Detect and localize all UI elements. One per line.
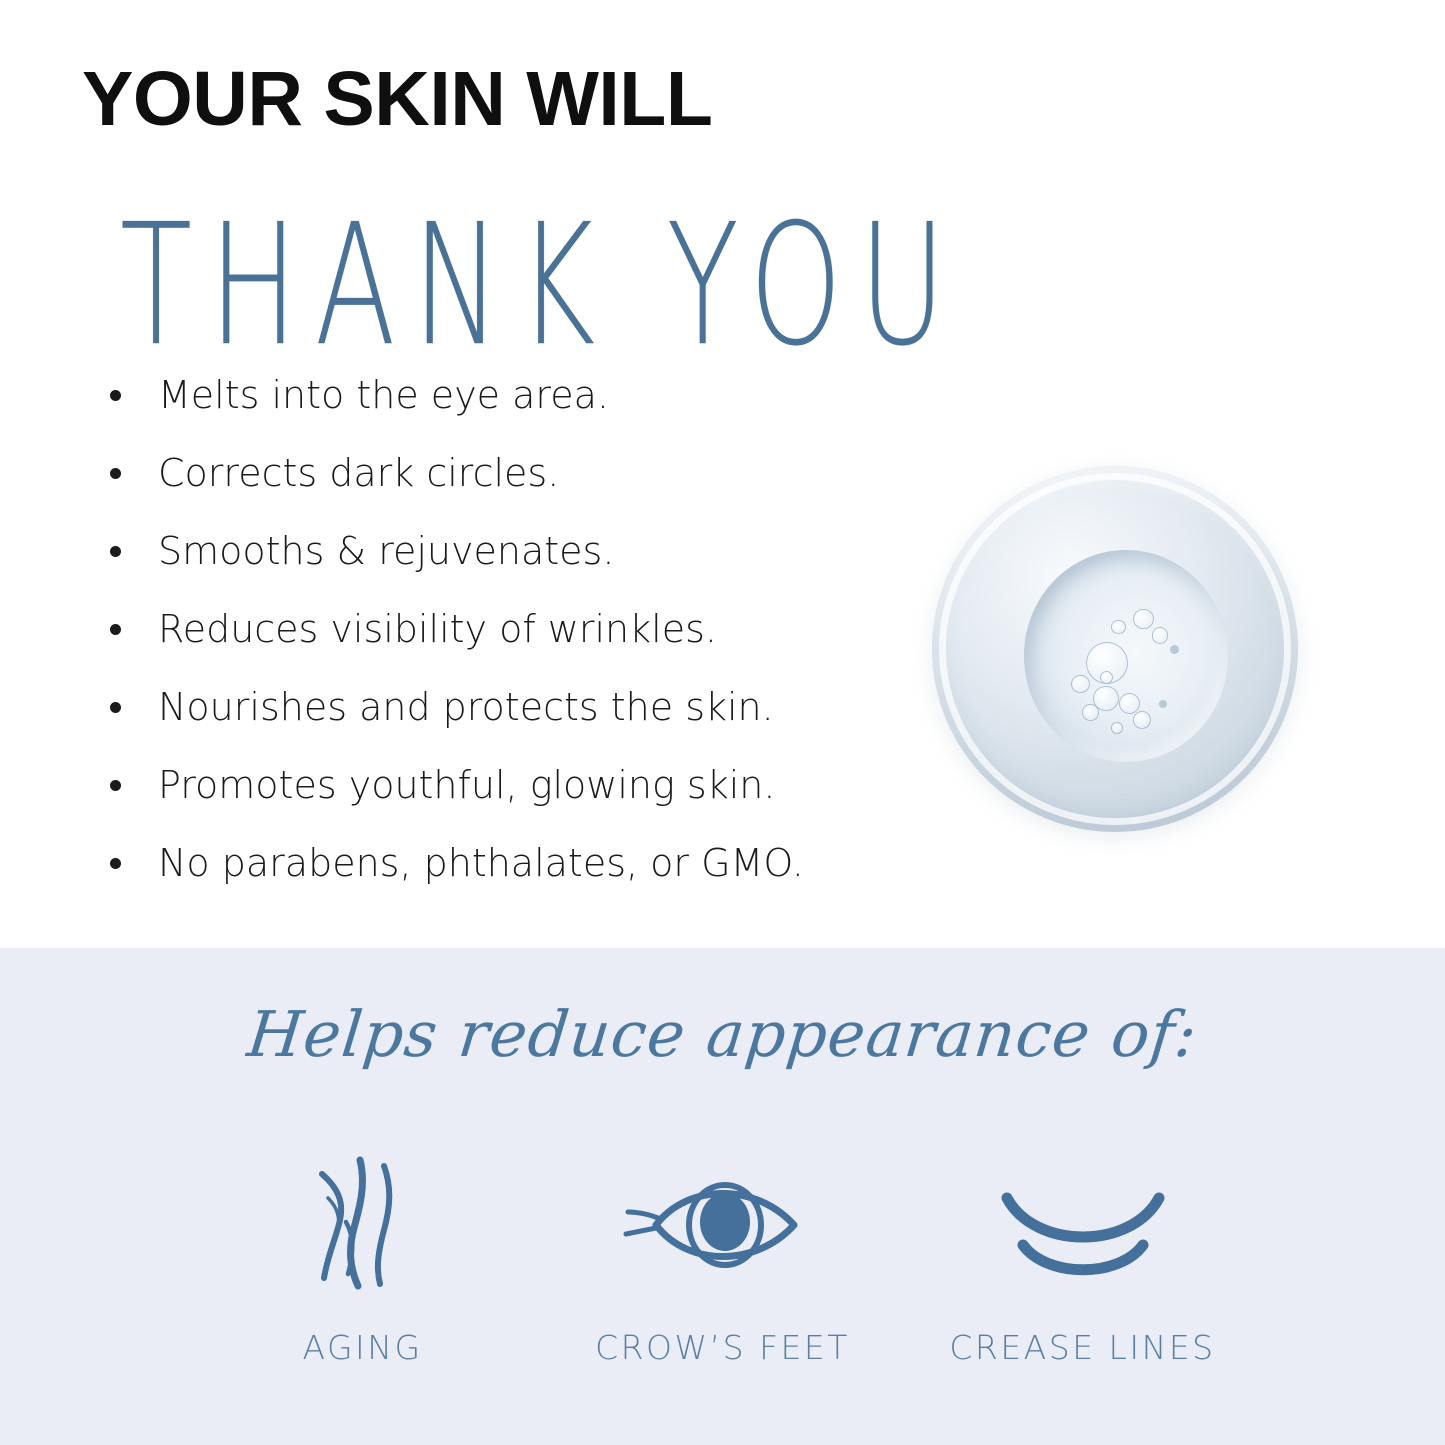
eye-icon: [618, 1150, 828, 1300]
benefit-item: Promotes youthful, glowing skin.: [100, 763, 900, 841]
bubble: [1111, 722, 1123, 734]
script-heading: Helps reduce appearance of:: [0, 995, 1445, 1075]
headline-primary: YOUR SKIN WILL: [82, 58, 712, 140]
bullet-dot-icon: [110, 624, 121, 635]
bubble: [1152, 627, 1169, 644]
benefit-text: Corrects dark circles.: [158, 451, 559, 495]
benefit-text: Smooths & rejuvenates.: [158, 529, 614, 573]
benefit-item: No parabens, phthalates, or GMO.: [100, 841, 900, 919]
bubble: [1133, 609, 1153, 629]
concern-item-crows-feet: CROW’S FEET: [543, 1150, 903, 1367]
bubble: [1111, 620, 1125, 634]
benefits-section: YOUR SKIN WILL THANK YOU Melts into the …: [0, 0, 1445, 948]
bullet-dot-icon: [110, 858, 121, 869]
benefit-text: Melts into the eye area.: [158, 373, 609, 417]
benefit-item: Nourishes and protects the skin.: [100, 685, 900, 763]
benefit-item: Smooths & rejuvenates.: [100, 529, 900, 607]
bullet-dot-icon: [110, 546, 121, 557]
wrinkle-lines-icon: [288, 1150, 438, 1300]
benefit-text: Nourishes and protects the skin.: [158, 685, 774, 729]
benefit-item: Reduces visibility of wrinkles.: [100, 607, 900, 685]
benefit-text: Reduces visibility of wrinkles.: [158, 607, 717, 651]
concern-icon-row: AGING CROW’S FEET: [0, 1150, 1445, 1367]
bullet-dot-icon: [110, 780, 121, 791]
benefit-text: Promotes youthful, glowing skin.: [158, 763, 775, 807]
concern-item-aging: AGING: [183, 1150, 543, 1367]
bubble: [1082, 704, 1099, 721]
infographic-page: YOUR SKIN WILL THANK YOU Melts into the …: [0, 0, 1445, 1445]
concern-label: CREASE LINES: [949, 1328, 1215, 1367]
crease-arcs-icon: [983, 1150, 1183, 1300]
bubble: [1071, 675, 1090, 694]
bullet-dot-icon: [110, 702, 121, 713]
benefit-item: Melts into the eye area.: [100, 373, 900, 451]
bubble: [1170, 645, 1179, 654]
benefits-list: Melts into the eye area. Corrects dark c…: [100, 373, 900, 919]
benefit-text: No parabens, phthalates, or GMO.: [158, 841, 804, 885]
bullet-dot-icon: [110, 390, 121, 401]
benefit-item: Corrects dark circles.: [100, 451, 900, 529]
concern-label: CROW’S FEET: [595, 1328, 850, 1367]
bullet-dot-icon: [110, 468, 121, 479]
concern-label: AGING: [302, 1328, 422, 1367]
bubble: [1119, 693, 1140, 714]
gel-droplet-image: [932, 466, 1298, 832]
concern-item-crease-lines: CREASE LINES: [903, 1150, 1263, 1367]
